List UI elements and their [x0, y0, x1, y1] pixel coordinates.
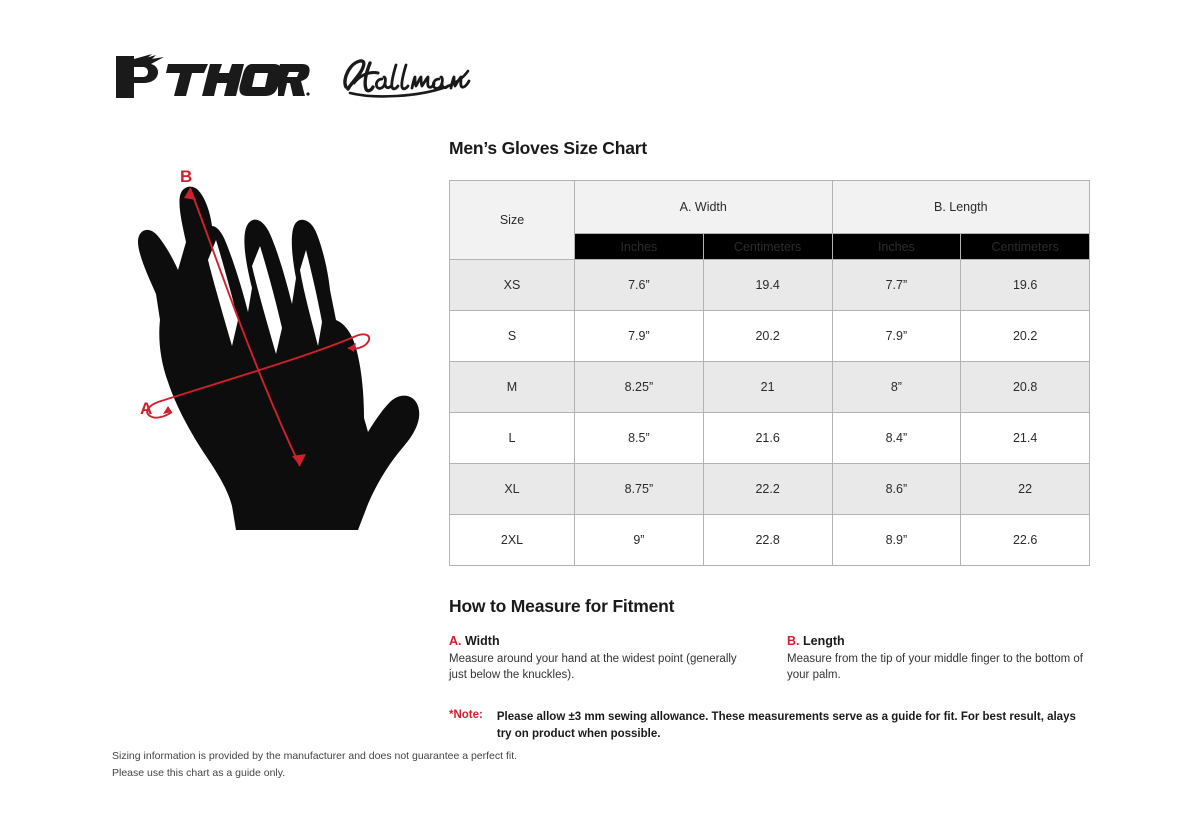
size-chart-page: B A Men’s Gloves Size Chart Size A. Widt…	[0, 0, 1200, 820]
thor-logo	[112, 52, 312, 100]
cell-length-centimeters: 22.6	[961, 515, 1090, 566]
measure-marker-b: B.	[787, 634, 800, 648]
cell-size: XS	[450, 260, 575, 311]
cell-width-inches: 8.5”	[575, 413, 704, 464]
cell-width-centimeters: 22.2	[703, 464, 832, 515]
hallman-logo	[340, 53, 472, 99]
table-row: L 8.5” 21.6 8.4” 21.4	[450, 413, 1090, 464]
cell-width-centimeters: 21	[703, 362, 832, 413]
cell-length-inches: 7.9”	[832, 311, 961, 362]
column-header-width-inches: Inches	[575, 234, 704, 260]
cell-size: S	[450, 311, 575, 362]
cell-size: XL	[450, 464, 575, 515]
hand-measurement-diagram: B A	[120, 160, 440, 550]
measure-item-width: A. Width Measure around your hand at the…	[449, 634, 751, 684]
measure-marker-a: A.	[449, 634, 462, 648]
measure-name-length: Length	[803, 634, 845, 648]
measure-item-heading: A. Width	[449, 634, 751, 648]
brand-logo-bar	[112, 52, 472, 100]
column-group-width: A. Width	[575, 181, 833, 234]
measure-item-heading: B. Length	[787, 634, 1089, 648]
cell-width-centimeters: 19.4	[703, 260, 832, 311]
cell-length-inches: 8.6”	[832, 464, 961, 515]
table-body: XS 7.6” 19.4 7.7” 19.6 S 7.9” 20.2 7.9” …	[450, 260, 1090, 566]
page-title: Men’s Gloves Size Chart	[449, 138, 1089, 159]
table-header: Size A. Width B. Length Inches Centimete…	[450, 181, 1090, 260]
diagram-marker-b: B	[180, 167, 192, 186]
cell-width-inches: 8.25”	[575, 362, 704, 413]
cell-width-inches: 9”	[575, 515, 704, 566]
cell-length-inches: 8”	[832, 362, 961, 413]
column-header-length-inches: Inches	[832, 234, 961, 260]
cell-width-inches: 8.75”	[575, 464, 704, 515]
how-to-measure-title: How to Measure for Fitment	[449, 596, 1089, 617]
diagram-marker-a: A	[140, 399, 152, 418]
cell-length-centimeters: 20.2	[961, 311, 1090, 362]
cell-width-centimeters: 22.8	[703, 515, 832, 566]
cell-length-centimeters: 20.8	[961, 362, 1090, 413]
table-row: M 8.25” 21 8” 20.8	[450, 362, 1090, 413]
footer-line-1: Sizing information is provided by the ma…	[112, 748, 517, 765]
table-row: 2XL 9” 22.8 8.9” 22.6	[450, 515, 1090, 566]
measure-name-width: Width	[465, 634, 500, 648]
table-row: S 7.9” 20.2 7.9” 20.2	[450, 311, 1090, 362]
cell-width-inches: 7.9”	[575, 311, 704, 362]
cell-length-inches: 8.4”	[832, 413, 961, 464]
cell-length-centimeters: 21.4	[961, 413, 1090, 464]
cell-width-inches: 7.6”	[575, 260, 704, 311]
cell-length-inches: 8.9”	[832, 515, 961, 566]
cell-length-centimeters: 19.6	[961, 260, 1090, 311]
size-chart-table: Size A. Width B. Length Inches Centimete…	[449, 180, 1090, 566]
note-label: *Note:	[449, 709, 483, 744]
how-to-measure-section: How to Measure for Fitment A. Width Meas…	[449, 596, 1089, 684]
column-header-width-centimeters: Centimeters	[703, 234, 832, 260]
cell-size: M	[450, 362, 575, 413]
cell-width-centimeters: 21.6	[703, 413, 832, 464]
cell-width-centimeters: 20.2	[703, 311, 832, 362]
note-section: *Note: Please allow ±3 mm sewing allowan…	[449, 709, 1089, 744]
note-text: Please allow ±3 mm sewing allowance. The…	[497, 709, 1085, 744]
cell-length-inches: 7.7”	[832, 260, 961, 311]
table-row: XS 7.6” 19.4 7.7” 19.6	[450, 260, 1090, 311]
cell-size: 2XL	[450, 515, 575, 566]
cell-size: L	[450, 413, 575, 464]
footer-line-2: Please use this chart as a guide only.	[112, 765, 517, 782]
footer-disclaimer: Sizing information is provided by the ma…	[112, 748, 517, 782]
measure-description-width: Measure around your hand at the widest p…	[449, 651, 751, 684]
measure-description-length: Measure from the tip of your middle fing…	[787, 651, 1089, 684]
column-group-length: B. Length	[832, 181, 1090, 234]
cell-length-centimeters: 22	[961, 464, 1090, 515]
chart-content: Men’s Gloves Size Chart Size A. Width B.…	[449, 138, 1089, 743]
measure-item-length: B. Length Measure from the tip of your m…	[787, 634, 1089, 684]
table-row: XL 8.75” 22.2 8.6” 22	[450, 464, 1090, 515]
column-header-length-centimeters: Centimeters	[961, 234, 1090, 260]
column-header-size: Size	[450, 181, 575, 260]
